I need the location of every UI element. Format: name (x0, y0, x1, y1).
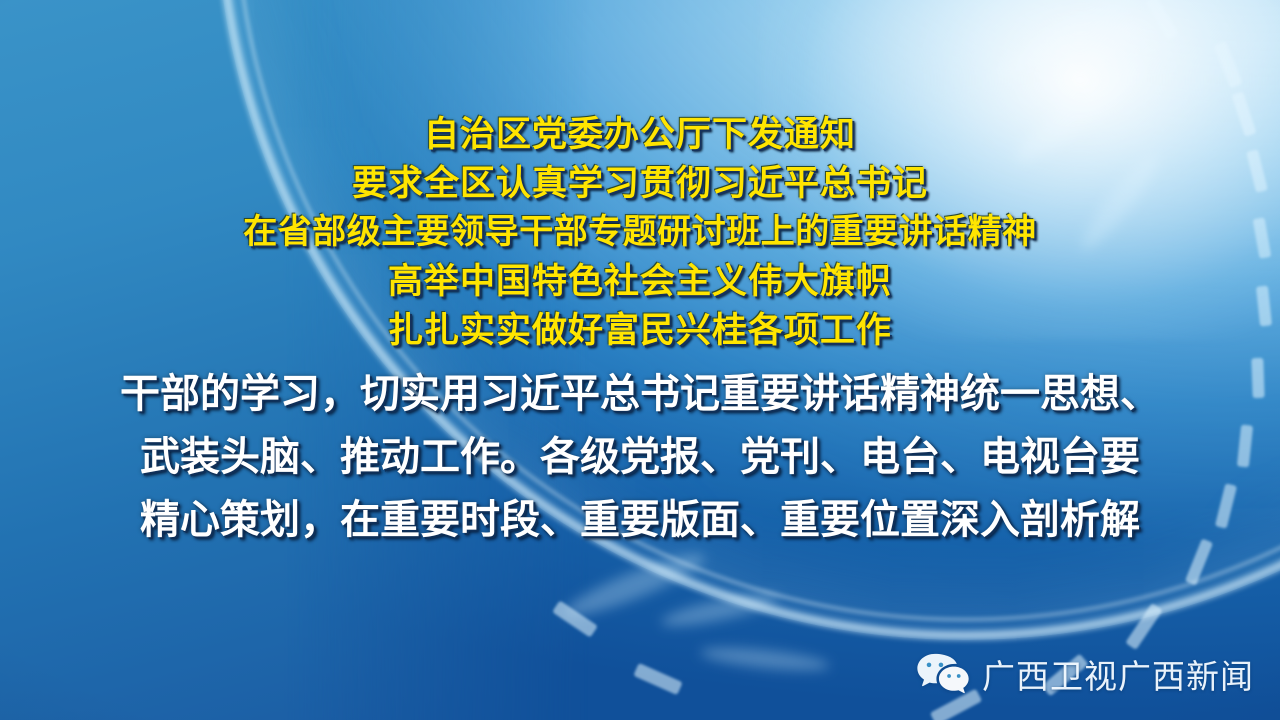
caption-overlay: 自治区党委办公厅下发通知 要求全区认真学习贯彻习近平总书记 在省部级主要领导干部… (0, 0, 1280, 720)
headline-line: 高举中国特色社会主义伟大旗帜 (0, 257, 1280, 306)
broadcast-screen: 自治区党委办公厅下发通知 要求全区认真学习贯彻习近平总书记 在省部级主要领导干部… (0, 0, 1280, 720)
body-text-line: 精心策划，在重要时段、重要版面、重要位置深入剖析解 (0, 489, 1280, 552)
wechat-logo-icon (916, 652, 970, 696)
headline-line: 扎扎实实做好富民兴桂各项工作 (0, 306, 1280, 355)
body-text-line: 武装头脑、推动工作。各级党报、党刊、电台、电视台要 (0, 426, 1280, 489)
body-text-line: 干部的学习，切实用习近平总书记重要讲话精神统一思想、 (0, 363, 1280, 426)
headline-line: 自治区党委办公厅下发通知 (0, 110, 1280, 159)
headline-block: 自治区党委办公厅下发通知 要求全区认真学习贯彻习近平总书记 在省部级主要领导干部… (0, 110, 1280, 355)
body-text-block: 干部的学习，切实用习近平总书记重要讲话精神统一思想、 武装头脑、推动工作。各级党… (0, 363, 1280, 552)
wechat-watermark: 广西卫视广西新闻 (916, 650, 1254, 698)
wechat-watermark-label: 广西卫视广西新闻 (982, 650, 1254, 698)
headline-line: 要求全区认真学习贯彻习近平总书记 (0, 159, 1280, 208)
headline-line: 在省部级主要领导干部专题研讨班上的重要讲话精神 (0, 208, 1280, 257)
